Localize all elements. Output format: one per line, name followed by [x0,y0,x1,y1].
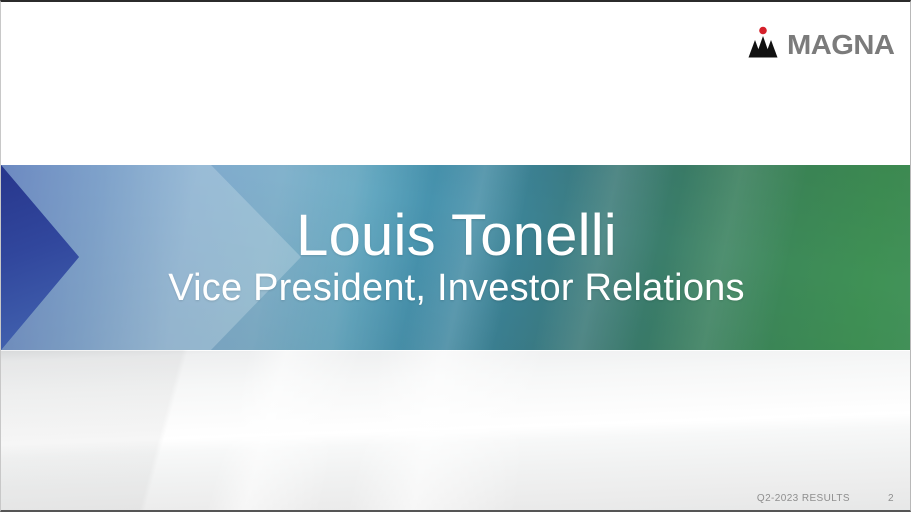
footer-diagonal-shading [1,350,911,512]
speaker-title: Vice President, Investor Relations [168,268,744,309]
magna-mountain-icon [746,26,780,58]
magna-logo: MAGNA [746,24,890,58]
speaker-name: Louis Tonelli [296,206,617,267]
presentation-slide: MAGNA Louis Tonelli Vice President, Inve… [0,0,911,512]
footer-meta: Q2-2023 RESULTS 2 [757,493,894,504]
slide-footer-panel: Q2-2023 RESULTS 2 [1,350,911,512]
magna-wordmark: MAGNA [787,32,894,58]
slide-header: MAGNA [1,2,911,165]
footer-top-edge [1,350,911,351]
footer-deck-label: Q2-2023 RESULTS [757,493,850,504]
title-banner: Louis Tonelli Vice President, Investor R… [1,165,911,350]
slide-page-number: 2 [884,493,894,504]
speaker-block: Louis Tonelli Vice President, Investor R… [1,165,911,350]
